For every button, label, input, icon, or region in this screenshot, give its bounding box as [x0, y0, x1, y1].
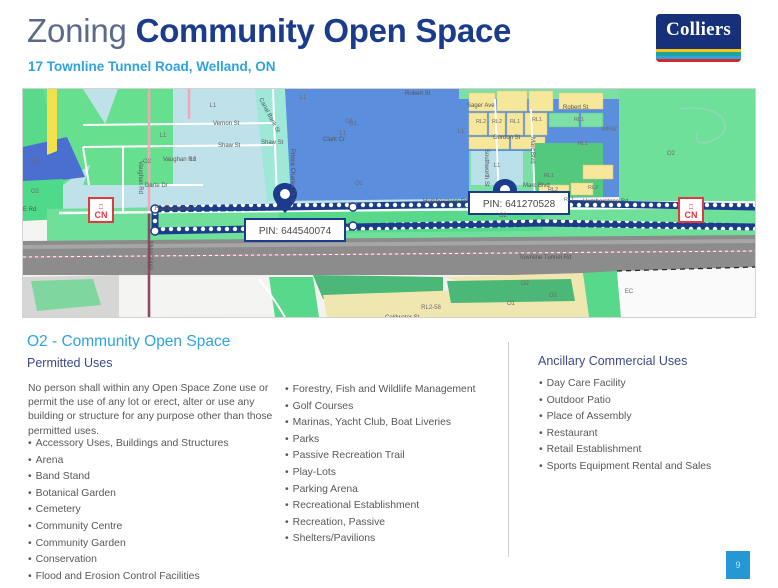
svg-text:Southworth St: Southworth St [483, 149, 489, 187]
svg-text:L1: L1 [458, 129, 465, 135]
svg-text:L1: L1 [340, 131, 347, 137]
svg-text:RL1: RL1 [578, 141, 588, 147]
column-divider [508, 342, 509, 557]
svg-text:Robert St: Robert St [405, 91, 431, 97]
svg-text:Robert St: Robert St [563, 105, 589, 111]
permitted-uses-intro: No person shall within any Open Space Zo… [28, 382, 276, 439]
svg-text:Humberstone Rd: Humberstone Rd [155, 206, 200, 212]
permitted-uses-heading: Permitted Uses [27, 356, 112, 370]
svg-text:Sager Ave: Sager Ave [467, 103, 495, 109]
svg-text:O1: O1 [345, 119, 354, 125]
green-ne [619, 89, 755, 201]
list-item: Restaurant [539, 426, 754, 443]
list-item: Conservation [28, 552, 280, 569]
green-s-1 [269, 277, 319, 317]
svg-text:RL1: RL1 [564, 197, 574, 203]
list-item: Retail Establishment [539, 442, 754, 459]
svg-text:O2: O2 [31, 159, 40, 165]
list-item: Passive Recreation Trail [285, 448, 500, 465]
svg-text:RL2: RL2 [492, 119, 502, 125]
pin-callout-east[interactable]: PIN: 641270528 [469, 192, 569, 214]
page-subtitle-address: 17 Townline Tunnel Road, Welland, ON [28, 59, 276, 74]
green-s-edge [583, 271, 621, 317]
logo-stripes [656, 49, 741, 62]
svg-text:CN: CN [685, 210, 698, 220]
vertex-handle[interactable] [349, 222, 357, 230]
list-item: Botanical Garden [28, 486, 280, 503]
svg-text:L1: L1 [160, 133, 167, 139]
svg-text:CN: CN [95, 210, 108, 220]
stripe-red [656, 59, 741, 62]
colliers-logo: Colliers [656, 14, 741, 62]
list-item: Community Garden [28, 536, 280, 553]
svg-text:Marc Blvd: Marc Blvd [523, 183, 550, 189]
svg-text:RL2-58: RL2-58 [421, 305, 441, 311]
page-header: Zoning Community Open Space 17 Townline … [0, 0, 778, 88]
vertex-handle[interactable] [151, 227, 159, 235]
list-item: Arena [28, 453, 280, 470]
svg-text:Darte Dr: Darte Dr [145, 183, 168, 189]
svg-text:L1: L1 [494, 163, 501, 169]
svg-text:L1: L1 [190, 157, 197, 163]
list-item: Recreational Establishment [285, 498, 500, 515]
slide-page: Zoning Community Open Space 17 Townline … [0, 0, 778, 588]
white-parcel-s [119, 277, 277, 317]
svg-text:O1: O1 [507, 301, 516, 307]
permitted-uses-list-left: Accessory Uses, Buildings and Structures… [28, 436, 280, 585]
svg-text:RL1: RL1 [544, 173, 554, 179]
svg-text:RL2: RL2 [548, 187, 558, 193]
page-title-main: Community Open Space [136, 12, 511, 49]
svg-text:WRW: WRW [601, 127, 617, 133]
svg-text:RL1: RL1 [532, 117, 542, 123]
zone-title: O2 - Community Open Space [27, 333, 230, 351]
list-item: Place of Assembly [539, 409, 754, 426]
svg-text:Shaw St: Shaw St [261, 140, 284, 146]
svg-text:O1: O1 [355, 181, 364, 187]
svg-text:Prince Charles Dr S: Prince Charles Dr S [289, 149, 295, 202]
cn-rail-marker-west: ⎕ CN [89, 198, 113, 222]
svg-text:O2: O2 [499, 213, 508, 219]
list-item: Golf Courses [285, 399, 500, 416]
svg-text:Humberstone Rd: Humberstone Rd [423, 199, 468, 205]
list-item: Band Stand [28, 469, 280, 486]
map-canvas[interactable]: ⎕ CN ⎕ CN PIN: 644540074 [23, 89, 755, 317]
zoning-map[interactable]: ⎕ CN ⎕ CN PIN: 644540074 [22, 88, 756, 318]
pin-callout-east-label: PIN: 641270528 [483, 199, 556, 210]
svg-text:Townline Tunnel Rd: Townline Tunnel Rd [519, 255, 571, 261]
list-item: Play-Lots [285, 465, 500, 482]
page-number-badge: 9 [726, 551, 750, 579]
svg-text:Coldwater St: Coldwater St [385, 315, 420, 317]
vertex-handle[interactable] [349, 203, 357, 211]
cn-rail-marker-east: ⎕ CN [679, 198, 703, 222]
svg-text:O2: O2 [667, 151, 676, 157]
list-item: Sports Equipment Rental and Sales [539, 459, 754, 476]
svg-text:O2: O2 [31, 189, 40, 195]
svg-text:Humberstone Rd: Humberstone Rd [583, 199, 628, 205]
svg-text:L1: L1 [210, 103, 217, 109]
page-title-prefix: Zoning [27, 12, 127, 49]
svg-text:Vernon St: Vernon St [213, 121, 240, 127]
svg-text:O2: O2 [607, 89, 616, 91]
logo-wordmark: Colliers [656, 19, 741, 41]
svg-text:RL2: RL2 [588, 185, 598, 191]
white-parcel-se [617, 267, 755, 317]
list-item: Outdoor Patio [539, 393, 754, 410]
list-item: Accessory Uses, Buildings and Structures [28, 436, 280, 453]
ancillary-uses-list: Day Care FacilityOutdoor PatioPlace of A… [539, 376, 754, 476]
svg-text:Mississippi: Mississippi [147, 241, 153, 270]
yellow-strip-nw [47, 89, 57, 155]
list-item: Shelters/Pavilions [285, 531, 500, 548]
list-item: Forestry, Fish and Wildlife Management [285, 382, 500, 399]
svg-text:EC: EC [625, 289, 634, 295]
pin-callout-west-label: PIN: 644540074 [259, 226, 332, 237]
list-item: Cemetery [28, 502, 280, 519]
list-item: Marinas, Yacht Club, Boat Liveries [285, 415, 500, 432]
green-s-3 [447, 279, 575, 303]
list-item: Parking Arena [285, 482, 500, 499]
list-item: Day Care Facility [539, 376, 754, 393]
svg-text:L1: L1 [300, 95, 307, 101]
svg-text:E Rd: E Rd [23, 207, 36, 213]
svg-text:O2: O2 [521, 281, 530, 287]
svg-text:O2: O2 [143, 159, 152, 165]
svg-text:Shaw St: Shaw St [218, 143, 241, 149]
list-item: Community Centre [28, 519, 280, 536]
list-item: Recreation, Passive [285, 515, 500, 532]
svg-text:O2: O2 [549, 293, 558, 299]
list-item: Flood and Erosion Control Facilities [28, 569, 280, 586]
pin-callout-west[interactable]: PIN: 644540074 [245, 219, 345, 241]
permitted-uses-list-mid: Forestry, Fish and Wildlife ManagementGo… [285, 382, 500, 548]
svg-text:Marc Blvd: Marc Blvd [529, 137, 535, 164]
svg-text:Vaughan Rd: Vaughan Rd [137, 161, 143, 194]
svg-text:Gordon St: Gordon St [493, 135, 521, 141]
svg-text:Clark Cr: Clark Cr [323, 137, 345, 143]
svg-text:RL1: RL1 [510, 119, 520, 125]
list-item: Parks [285, 432, 500, 449]
ancillary-uses-heading: Ancillary Commercial Uses [538, 354, 687, 368]
page-title: Zoning Community Open Space [27, 14, 511, 47]
svg-text:RL1: RL1 [574, 117, 584, 123]
svg-text:RL2: RL2 [476, 119, 486, 125]
